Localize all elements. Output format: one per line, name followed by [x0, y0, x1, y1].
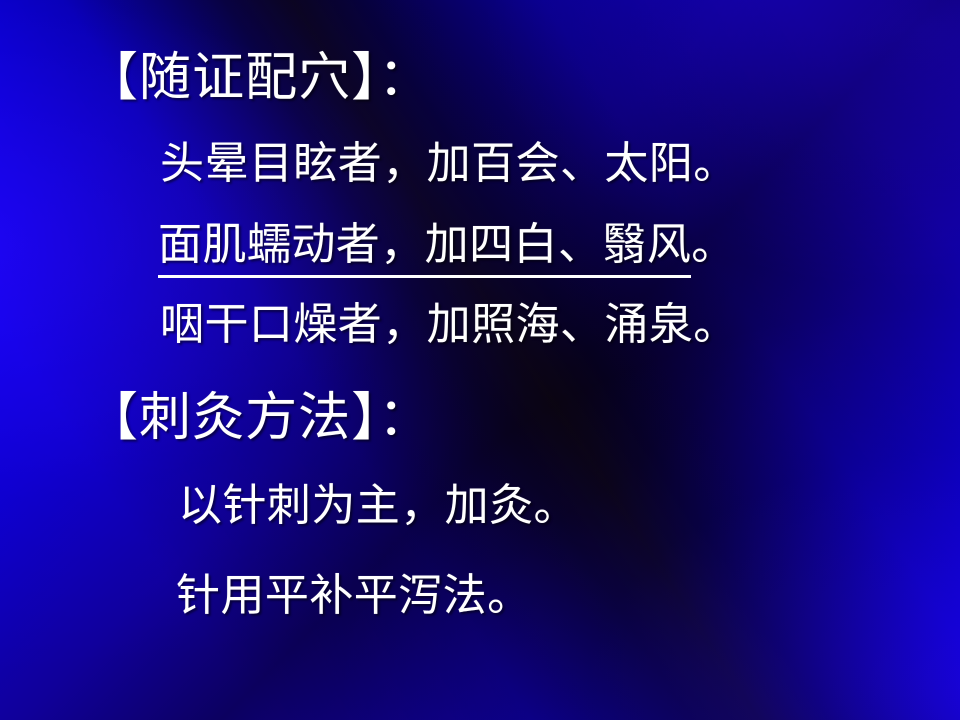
underlined-text: 面肌蠕动者，加四白、翳风 [158, 219, 691, 278]
section-heading-suizheng-peixue: 【随证配穴】： [86, 52, 431, 104]
bullet-line-yizhenci-weizhu: 以针刺为主，加灸。 [178, 484, 578, 528]
presentation-slide: 【随证配穴】： 头晕目眩者，加百会、太阳。 面肌蠕动者，加四白、翳风。 咽干口燥… [0, 0, 960, 720]
bullet-line-yangan-kouzao: 咽干口燥者，加照海、涌泉。 [160, 303, 738, 347]
section-heading-cijiu-fangfa: 【刺灸方法】： [86, 392, 431, 444]
bullet-line-zhenyong-pingbu-pingxie: 针用平补平泻法。 [176, 574, 532, 618]
bullet-line-touyun-muxuan: 头晕目眩者，加百会、太阳。 [160, 142, 738, 186]
bullet-line-mianji-ruodong: 面肌蠕动者，加四白、翳风。 [158, 223, 736, 267]
slide-content: 【随证配穴】： 头晕目眩者，加百会、太阳。 面肌蠕动者，加四白、翳风。 咽干口燥… [0, 0, 960, 720]
line-tail-punctuation: 。 [691, 219, 735, 270]
